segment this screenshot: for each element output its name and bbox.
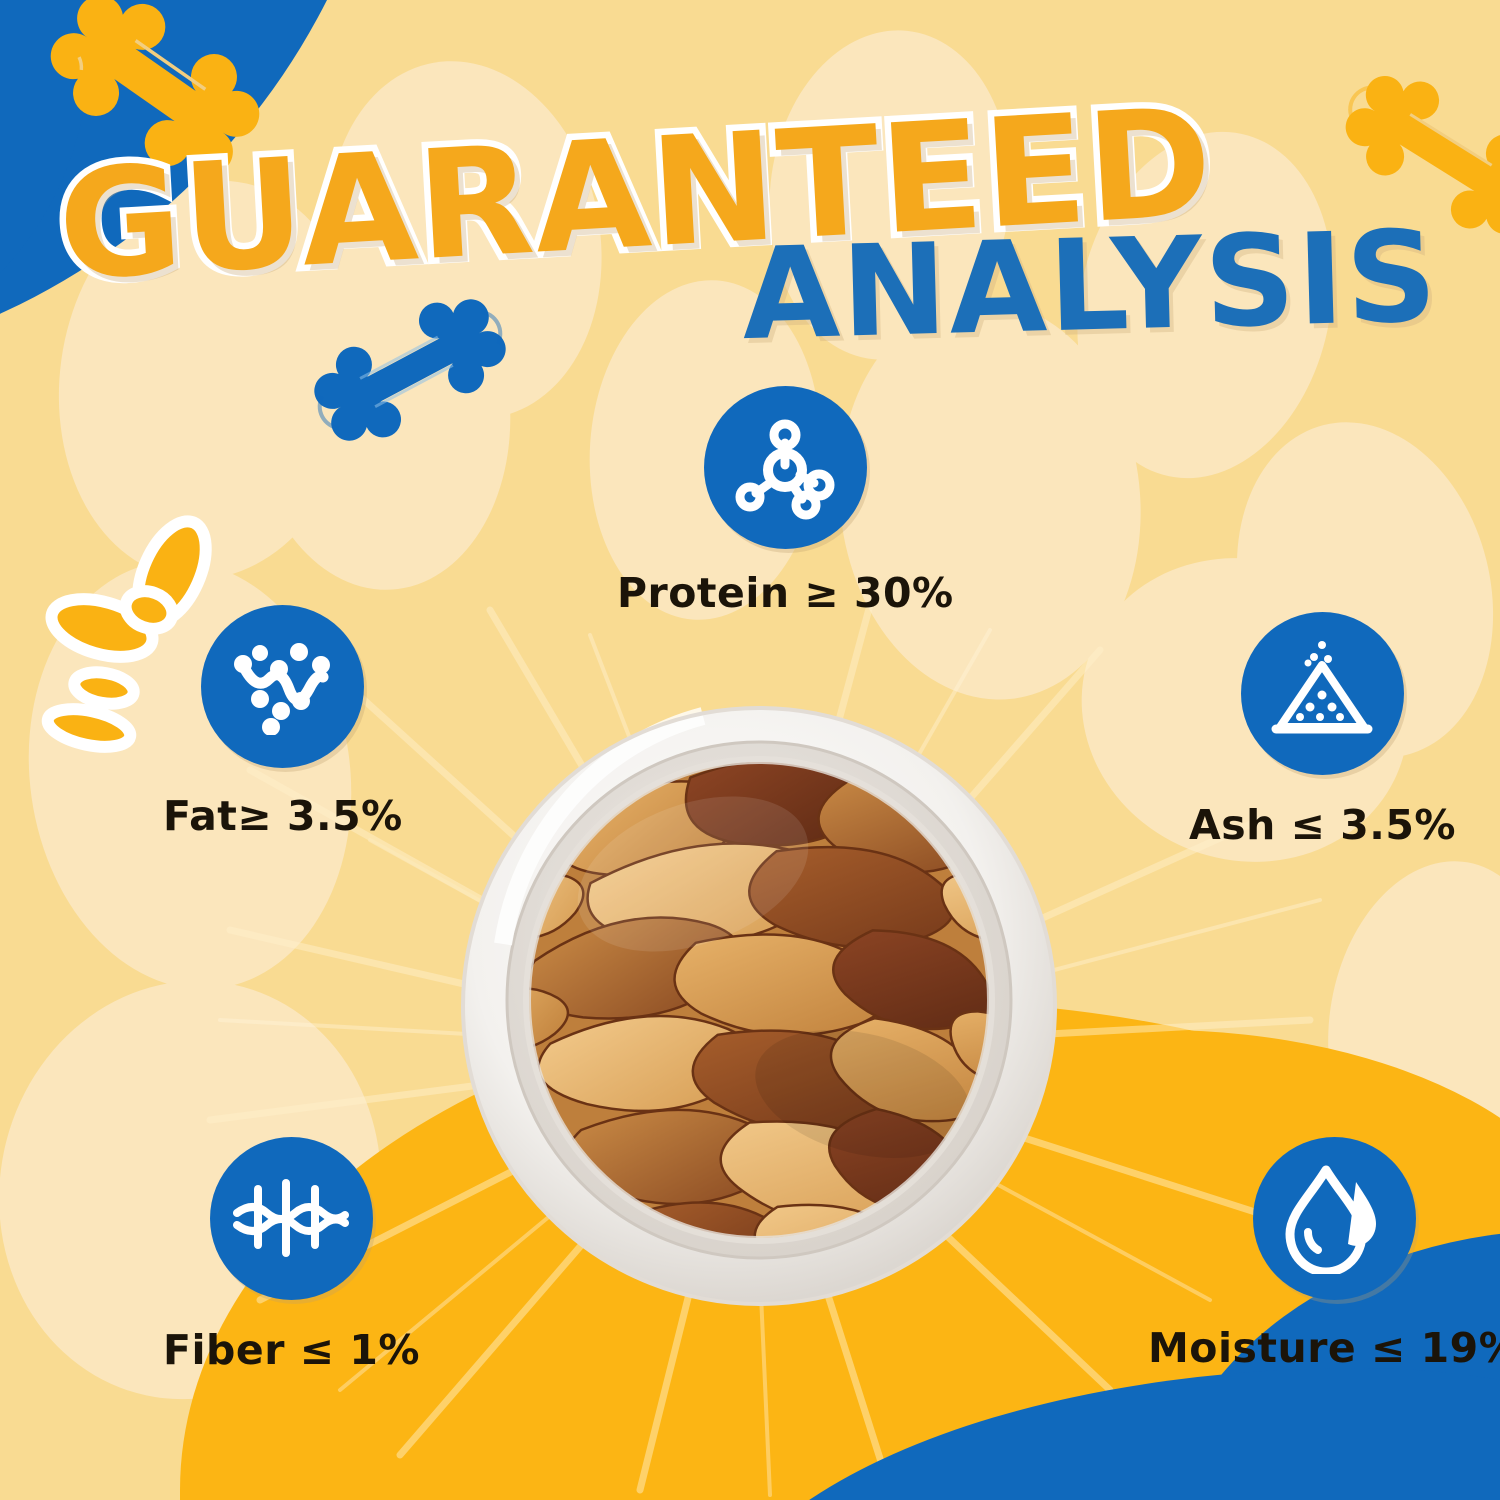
nutrient-item-moisture[interactable]: Moisture ≤ 19%	[1148, 1137, 1500, 1372]
ash-pile-icon	[1270, 639, 1374, 749]
fiber-label: Fiber ≤ 1%	[163, 1326, 420, 1374]
fat-badge	[201, 605, 364, 768]
protein-badge	[704, 386, 867, 549]
fat-label: Fat≥ 3.5%	[163, 792, 403, 840]
nutrient-item-fiber[interactable]: Fiber ≤ 1%	[163, 1137, 420, 1374]
headline-analysis: ANALYSIS	[740, 203, 1440, 368]
fiber-strand-icon	[233, 1173, 349, 1265]
fiber-badge	[210, 1137, 373, 1300]
nutrient-item-fat[interactable]: Fat≥ 3.5%	[163, 605, 403, 840]
protein-label: Protein ≥ 30%	[617, 569, 954, 617]
lipid-chain-icon	[227, 639, 339, 735]
molecule-icon	[730, 413, 840, 523]
nutrient-item-ash[interactable]: Ash ≤ 3.5%	[1189, 612, 1456, 849]
nutrient-item-protein[interactable]: Protein ≥ 30%	[617, 386, 954, 617]
ash-label: Ash ≤ 3.5%	[1189, 801, 1456, 849]
moisture-label: Moisture ≤ 19%	[1148, 1324, 1500, 1372]
guaranteed-analysis-infographic: GUARANTEED ANALYSIS	[0, 0, 1500, 1500]
product-photo-bowl	[443, 694, 1075, 1306]
water-drop-icon	[1280, 1164, 1388, 1274]
moisture-badge	[1253, 1137, 1416, 1300]
headline: GUARANTEED ANALYSIS	[0, 0, 1500, 340]
ash-badge	[1241, 612, 1404, 775]
